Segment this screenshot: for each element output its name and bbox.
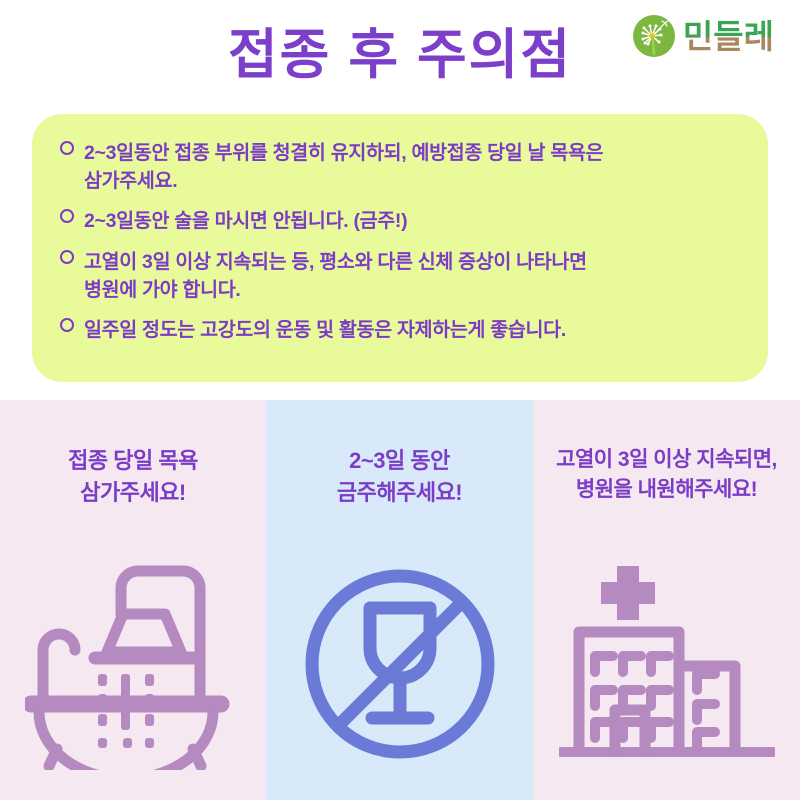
notice-line-1: 2~3일동안 접종 부위를 청결히 유지하되, 예방접종 당일 날 목욕은 <box>84 142 603 164</box>
bullet-marker-icon <box>60 141 74 155</box>
notice-list: 2~3일동안 접종 부위를 청결히 유지하되, 예방접종 당일 날 목욕은 삼가… <box>58 140 738 345</box>
caption-line-1: 고열이 3일 이상 지속되면, <box>556 445 777 475</box>
list-item: 2~3일동안 접종 부위를 청결히 유지하되, 예방접종 당일 날 목욕은 삼가… <box>58 140 738 195</box>
panel-no-alcohol-caption: 2~3일 동안 금주해주세요! <box>337 445 462 509</box>
panel-hospital-caption: 고열이 3일 이상 지속되면, 병원을 내원해주세요! <box>556 445 777 506</box>
notice-line-2: 삼가주세요. <box>84 168 738 196</box>
notice-line-2: 병원에 가야 합니다. <box>84 277 738 305</box>
panel-bath-caption: 접종 당일 목욕 삼가주세요! <box>68 445 198 509</box>
poster-root: 민들레 접종 후 주의점 2~3일동안 접종 부위를 청결히 유지하되, 예방접… <box>0 0 800 800</box>
caption-line-2: 금주해주세요! <box>337 477 462 509</box>
bullet-marker-icon <box>60 209 74 223</box>
list-item: 일주일 정도는 고강도의 운동 및 활동은 자제하는게 좋습니다. <box>58 317 738 345</box>
caption-line-1: 2~3일 동안 <box>337 445 462 477</box>
page-title: 접종 후 주의점 <box>0 26 800 85</box>
caption-line-2: 병원을 내원해주세요! <box>556 475 777 505</box>
bathtub-shower-icon <box>25 552 241 770</box>
notice-line-1: 2~3일동안 술을 마시면 안됩니다. (금주!) <box>84 210 407 232</box>
list-item: 2~3일동안 술을 마시면 안됩니다. (금주!) <box>58 208 738 236</box>
panel-bath: 접종 당일 목욕 삼가주세요! <box>0 400 266 800</box>
panel-row: 접종 당일 목욕 삼가주세요! <box>0 400 800 800</box>
caption-line-2: 삼가주세요! <box>68 477 198 509</box>
panel-no-alcohol: 2~3일 동안 금주해주세요! <box>266 400 533 800</box>
notice-line-1: 고열이 3일 이상 지속되는 등, 평소와 다른 신체 증상이 나타나면 <box>84 251 587 273</box>
hospital-building-icon <box>559 562 775 768</box>
panel-hospital: 고열이 3일 이상 지속되면, 병원을 내원해주세요! <box>533 400 800 800</box>
notice-card: 2~3일동안 접종 부위를 청결히 유지하되, 예방접종 당일 날 목욕은 삼가… <box>32 114 768 382</box>
caption-line-1: 접종 당일 목욕 <box>68 445 198 477</box>
bullet-marker-icon <box>60 318 74 332</box>
no-alcohol-icon <box>302 566 498 762</box>
notice-line-1: 일주일 정도는 고강도의 운동 및 활동은 자제하는게 좋습니다. <box>84 319 566 341</box>
bullet-marker-icon <box>60 250 74 264</box>
list-item: 고열이 3일 이상 지속되는 등, 평소와 다른 신체 증상이 나타나면 병원에… <box>58 249 738 304</box>
